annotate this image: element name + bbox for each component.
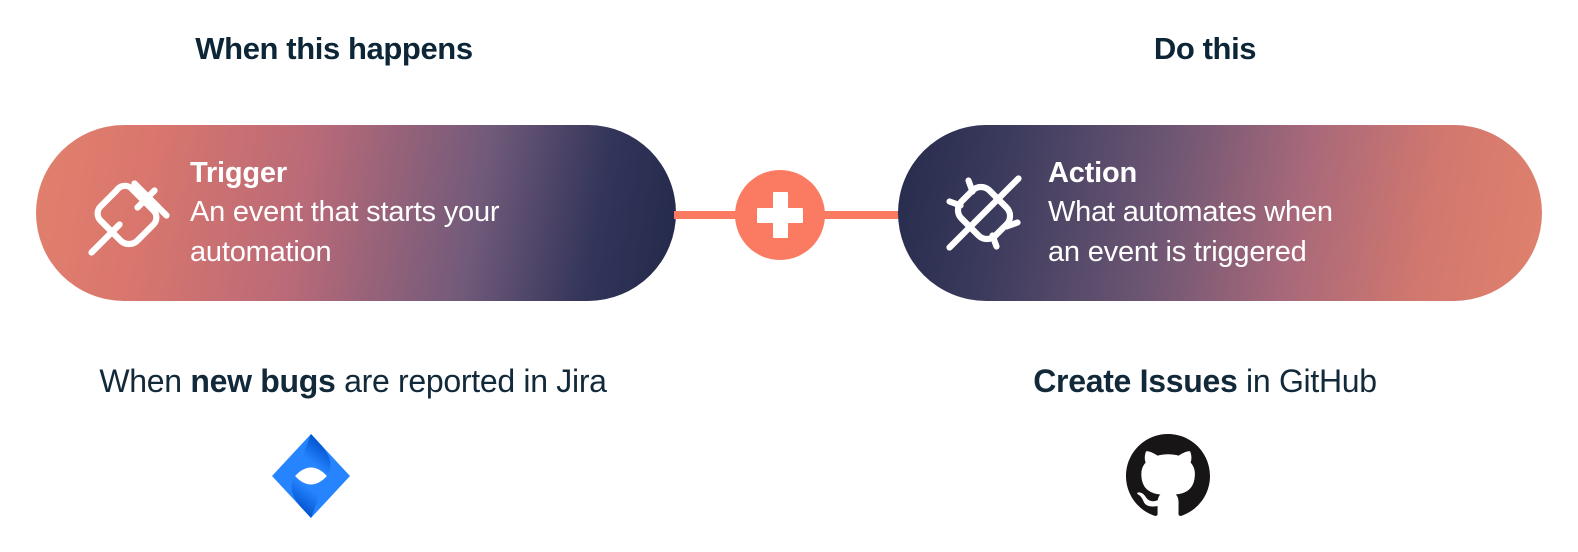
column-heading-when-this-happens: When this happens	[195, 31, 472, 67]
action-example-caption: Create Issues in GitHub	[1033, 363, 1377, 400]
trigger-card-description: An event that starts your automation	[190, 192, 676, 272]
action-card-text: Action What automates when an event is t…	[1048, 154, 1542, 272]
lightbulb-spark-icon	[920, 161, 1048, 265]
automation-diagram: When this happens Do this T	[0, 0, 1578, 552]
caption-right-suffix: in GitHub	[1237, 363, 1376, 399]
caption-right-bold: Create Issues	[1033, 363, 1237, 399]
caption-left-prefix: When	[99, 363, 190, 399]
trigger-example-caption: When new bugs are reported in Jira	[99, 363, 606, 400]
caption-left-bold: new bugs	[190, 363, 335, 399]
action-card-description: What automates when an event is triggere…	[1048, 192, 1542, 272]
connector-line-right	[820, 211, 900, 219]
plug-icon	[62, 161, 190, 265]
plus-icon[interactable]	[735, 170, 825, 260]
plus-icon-bar-vertical	[773, 192, 788, 238]
trigger-card-title: Trigger	[190, 154, 676, 192]
connector-line-left	[674, 211, 742, 219]
trigger-card[interactable]: Trigger An event that starts your automa…	[36, 125, 676, 301]
column-heading-do-this: Do this	[1154, 31, 1256, 67]
jira-logo	[272, 434, 350, 518]
action-card-title: Action	[1048, 154, 1542, 192]
github-logo	[1126, 434, 1210, 518]
action-card[interactable]: Action What automates when an event is t…	[898, 125, 1542, 301]
trigger-card-text: Trigger An event that starts your automa…	[190, 154, 676, 272]
caption-left-suffix: are reported in Jira	[336, 363, 607, 399]
